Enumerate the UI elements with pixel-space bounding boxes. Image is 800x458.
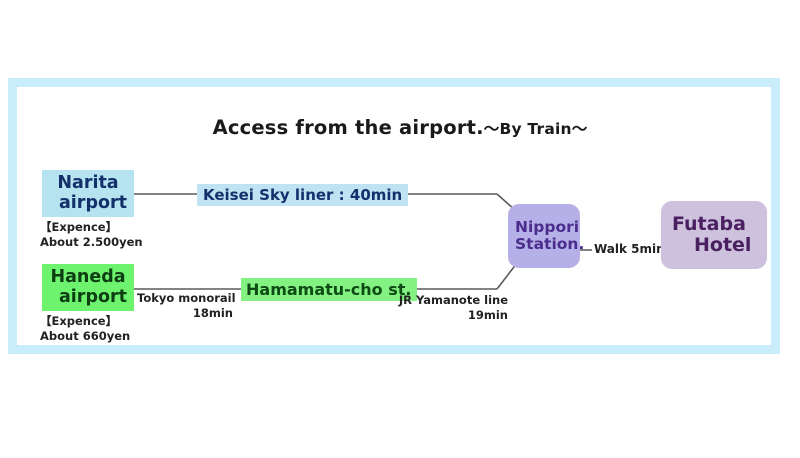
- node-narita-line2: airport: [49, 194, 127, 214]
- node-haneda-line2: airport: [49, 288, 127, 308]
- node-haneda-line1: Haneda: [50, 268, 125, 288]
- node-futaba-hotel[interactable]: Futaba Hotel: [661, 201, 767, 269]
- route-walk: Walk 5min: [592, 242, 667, 258]
- node-futaba-line2: Hotel: [672, 235, 751, 256]
- page-title-sub: 〜By Train〜: [484, 120, 588, 138]
- node-haneda-airport[interactable]: Haneda airport: [42, 264, 134, 311]
- node-nippori-station[interactable]: Nippori Station.: [508, 204, 580, 268]
- route-jr-yamanote-line: JR Yamanote line 19min: [396, 293, 508, 323]
- narita-expense-label: 【Expence】: [40, 220, 143, 235]
- route-tokyo-monorail-duration: 18min: [137, 306, 233, 321]
- node-futaba-line1: Futaba: [672, 214, 746, 235]
- node-narita-airport[interactable]: Narita airport: [42, 170, 134, 217]
- node-nippori-line2: Station.: [515, 236, 584, 253]
- route-hamamatsu-cho-station: Hamamatu-cho st.: [241, 278, 417, 301]
- haneda-expense-label: 【Expence】: [40, 314, 130, 329]
- node-nippori-line1: Nippori: [515, 219, 579, 236]
- route-keisei-skyliner: Keisei Sky liner : 40min: [197, 184, 408, 206]
- haneda-expense-value: About 660yen: [40, 329, 130, 344]
- haneda-expense: 【Expence】 About 660yen: [40, 314, 130, 343]
- diagram-canvas: Access from the airport.〜By Train〜 Narit…: [0, 0, 800, 458]
- page-title-main: Access from the airport.: [213, 116, 484, 139]
- narita-expense-value: About 2.500yen: [40, 235, 143, 250]
- route-tokyo-monorail: Tokyo monorail 18min: [137, 291, 233, 321]
- route-jr-yamanote-duration: 19min: [396, 308, 508, 323]
- node-narita-line1: Narita: [57, 174, 118, 194]
- narita-expense: 【Expence】 About 2.500yen: [40, 220, 143, 249]
- route-jr-yamanote-name: JR Yamanote line: [396, 293, 508, 308]
- route-tokyo-monorail-name: Tokyo monorail: [137, 291, 233, 306]
- page-title: Access from the airport.〜By Train〜: [0, 116, 800, 139]
